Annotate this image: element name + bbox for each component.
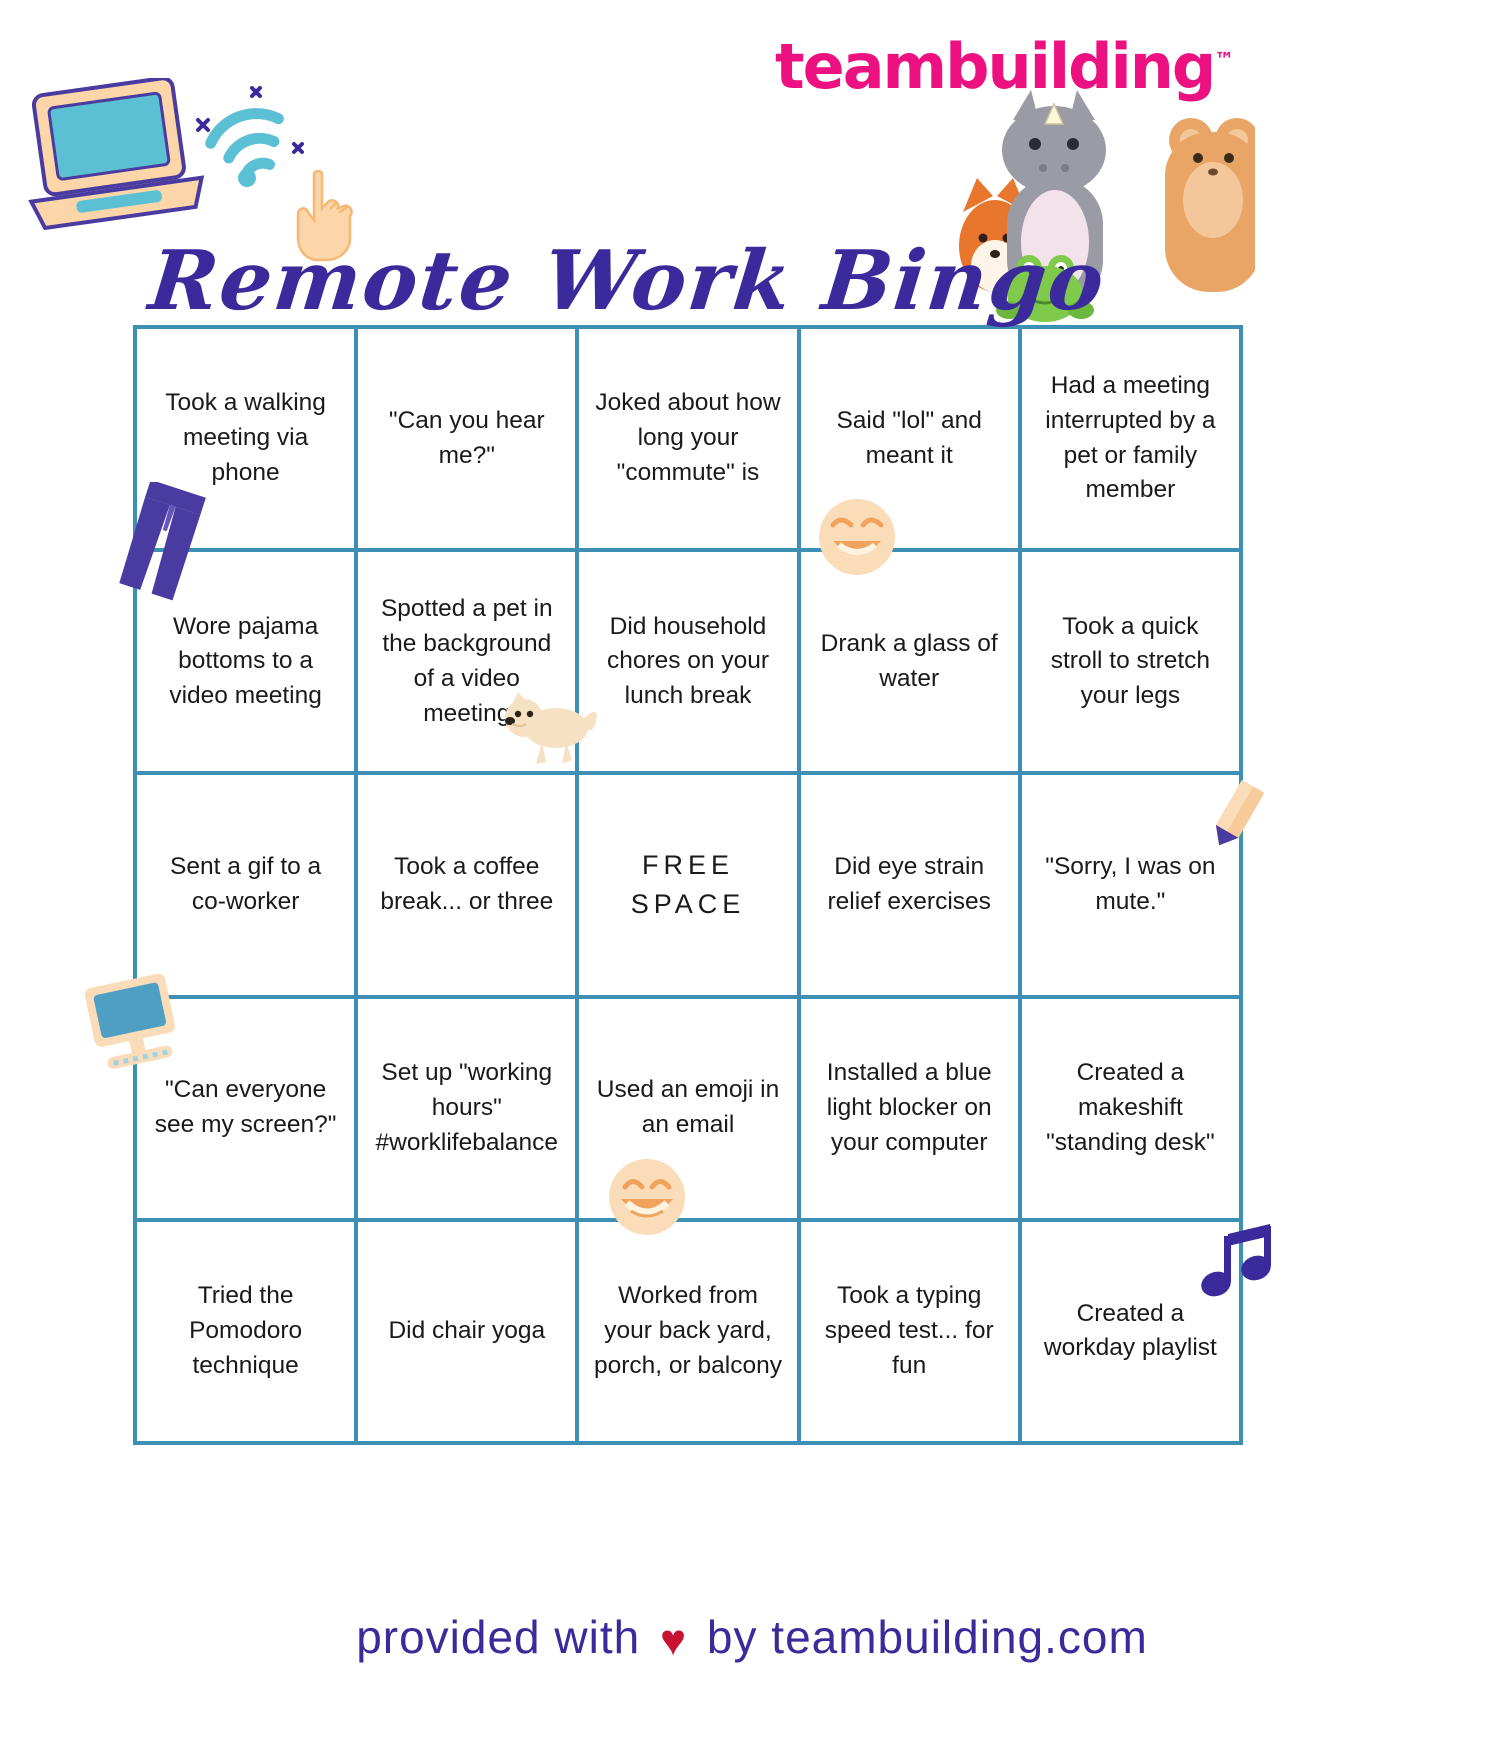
bingo-cell[interactable]: Sent a gif to a co-worker: [137, 775, 358, 998]
bingo-cell[interactable]: Had a meeting interrupted by a pet or fa…: [1022, 329, 1243, 552]
bingo-cell[interactable]: Took a quick stroll to stretch your legs: [1022, 552, 1243, 775]
teambuilding-logo: teambuilding™: [775, 36, 1234, 98]
bingo-cell[interactable]: Wore pajama bottoms to a video meeting: [137, 552, 358, 775]
bingo-cell[interactable]: Joked about how long your "commute" is: [579, 329, 800, 552]
trademark-symbol: ™: [1214, 47, 1234, 71]
bingo-cell[interactable]: Created a makeshift "standing desk": [1022, 999, 1243, 1222]
page-title: Remote Work Bingo: [146, 240, 1075, 322]
bingo-cell[interactable]: Drank a glass of water: [801, 552, 1022, 775]
bingo-cell[interactable]: Created a workday playlist: [1022, 1222, 1243, 1445]
bingo-cell[interactable]: Took a walking meeting via phone: [137, 329, 358, 552]
heart-icon: ♥: [654, 1616, 693, 1665]
bingo-cell[interactable]: Said "lol" and meant it: [801, 329, 1022, 552]
bingo-cell[interactable]: Spotted a pet in the background of a vid…: [358, 552, 579, 775]
footer-prefix: provided with: [356, 1611, 640, 1663]
bingo-cell[interactable]: "Can you hear me?": [358, 329, 579, 552]
bingo-cell[interactable]: Used an emoji in an email: [579, 999, 800, 1222]
bingo-cell[interactable]: Did eye strain relief exercises: [801, 775, 1022, 998]
footer-suffix: by teambuilding.com: [707, 1611, 1148, 1663]
bingo-cell[interactable]: Took a typing speed test... for fun: [801, 1222, 1022, 1445]
bingo-cell[interactable]: Did household chores on your lunch break: [579, 552, 800, 775]
laptop-icon: [20, 78, 205, 243]
bingo-page: teambuilding™: [0, 0, 1504, 1748]
bingo-cell[interactable]: "Sorry, I was on mute.": [1022, 775, 1243, 998]
logo-wordmark: teambuilding: [775, 30, 1214, 103]
bingo-cell[interactable]: Set up "working hours" #worklifebalance: [358, 999, 579, 1222]
footer-credit: provided with ♥ by teambuilding.com: [0, 1610, 1504, 1666]
wifi-icon: [190, 86, 310, 201]
bingo-cell[interactable]: Did chair yoga: [358, 1222, 579, 1445]
bingo-cell[interactable]: "Can everyone see my screen?": [137, 999, 358, 1222]
bingo-cell[interactable]: Worked from your back yard, porch, or ba…: [579, 1222, 800, 1445]
bingo-grid: Took a walking meeting via phone "Can yo…: [133, 325, 1243, 1445]
bingo-cell[interactable]: Tried the Pomodoro technique: [137, 1222, 358, 1445]
bingo-cell[interactable]: Took a coffee break... or three: [358, 775, 579, 998]
bingo-cell[interactable]: Installed a blue light blocker on your c…: [801, 999, 1022, 1222]
bingo-cell-free-space[interactable]: FREE SPACE: [579, 775, 800, 998]
